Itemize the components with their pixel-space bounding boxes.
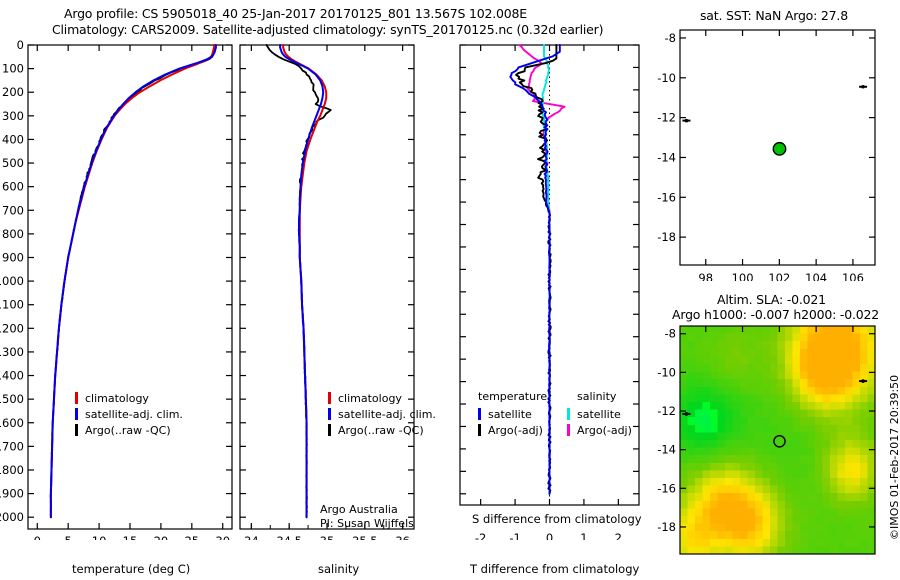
svg-text:1200: 1200 — [0, 321, 24, 335]
svg-text:36: 36 — [395, 534, 410, 540]
svg-text:-2: -2 — [475, 531, 486, 540]
svg-text:900: 900 — [2, 250, 24, 264]
svg-text:5: 5 — [65, 534, 72, 540]
svg-text:-1: -1 — [509, 531, 520, 540]
legend-label-satellite-adj-sal: satellite-adj. clim. — [338, 408, 436, 421]
legend-label-argo-raw-sal: Argo(..raw -QC) — [338, 424, 424, 437]
panel-sst-map: 98100102104106-8-10-12-14-16-18 — [655, 26, 900, 281]
svg-text:1600: 1600 — [0, 416, 24, 430]
temperature-legend: climatology satellite-adj. clim. Argo(..… — [75, 390, 183, 438]
svg-text:0: 0 — [546, 40, 553, 43]
svg-text:100: 100 — [2, 62, 24, 76]
svg-text:102: 102 — [768, 271, 790, 281]
legend-swatch-climatology — [75, 392, 78, 404]
salinity-legend: climatology satellite-adj. clim. Argo(..… — [328, 390, 436, 438]
svg-text:100: 100 — [732, 271, 754, 281]
sst-map-title: sat. SST: NaN Argo: 27.8 — [700, 8, 848, 23]
t-difference-axis-label: T difference from climatology — [470, 562, 639, 576]
legend-swatch-temp-satellite — [478, 408, 481, 420]
legend-header-temperature: temperature — [478, 390, 547, 406]
svg-text:1700: 1700 — [0, 439, 24, 453]
svg-text:-16: -16 — [657, 481, 676, 495]
svg-text:0.5: 0.5 — [609, 40, 627, 43]
svg-text:1800: 1800 — [0, 463, 24, 477]
svg-text:0.25: 0.25 — [571, 40, 597, 43]
legend-label-argo-raw: Argo(..raw -QC) — [85, 424, 171, 437]
legend-swatch-argo-raw — [75, 424, 78, 436]
legend-label-temp-satellite: satellite — [488, 408, 532, 421]
salinity-xaxis-label: salinity — [318, 562, 359, 576]
legend-label-sal-argo-adj: Argo(-adj) — [577, 424, 632, 437]
svg-text:-0.25: -0.25 — [500, 40, 530, 43]
difference-plot-svg: -2-1012-0.5-0.2500.250.5 — [455, 40, 645, 540]
svg-text:1400: 1400 — [0, 369, 24, 383]
legend-label-temp-argo-adj: Argo(-adj) — [488, 424, 543, 437]
argo-pi-credit: PI: Susan Wijffels — [320, 517, 414, 530]
legend-label-sal-satellite: satellite — [577, 408, 621, 421]
copyright-text: ©IMOS 01-Feb-2017 20:39:50 — [888, 540, 900, 553]
legend-label-climatology-sal: climatology — [338, 392, 402, 405]
svg-text:600: 600 — [2, 180, 24, 194]
legend-swatch-temp-argo-adj — [478, 424, 481, 436]
legend-swatch-sal-argo-adj — [567, 424, 570, 436]
legend-label-satellite-adj: satellite-adj. clim. — [85, 408, 183, 421]
panel-difference: -2-1012-0.5-0.2500.250.5 — [455, 40, 645, 540]
svg-text:300: 300 — [2, 109, 24, 123]
panel-temperature: 0100200300400500600700800900100011001200… — [0, 40, 240, 540]
svg-text:500: 500 — [2, 156, 24, 170]
sst-map-svg: 98100102104106-8-10-12-14-16-18 — [655, 26, 900, 281]
legend-header-salinity: salinity — [567, 390, 632, 406]
svg-text:-12: -12 — [657, 404, 676, 418]
panel-sla-map: -8-10-12-14-16-18 — [655, 322, 900, 580]
svg-text:35.5: 35.5 — [352, 534, 378, 540]
svg-text:1: 1 — [580, 531, 587, 540]
svg-text:2000: 2000 — [0, 510, 24, 524]
sla-map-title-line1: Altim. SLA: -0.021 — [717, 292, 826, 307]
svg-text:1100: 1100 — [0, 298, 24, 312]
svg-text:34: 34 — [244, 534, 259, 540]
svg-text:700: 700 — [2, 203, 24, 217]
panel-salinity: 3434.53535.536 — [238, 40, 418, 540]
svg-text:-10: -10 — [657, 365, 676, 379]
temperature-plot-svg: 0100200300400500600700800900100011001200… — [0, 40, 240, 540]
svg-text:-10: -10 — [657, 71, 676, 85]
svg-text:-14: -14 — [657, 150, 676, 164]
sla-map-svg: -8-10-12-14-16-18 — [655, 322, 900, 580]
svg-text:2: 2 — [615, 531, 622, 540]
argo-australia-credit: Argo Australia — [320, 503, 398, 516]
s-difference-axis-label: S difference from climatology — [472, 512, 642, 526]
svg-text:400: 400 — [2, 132, 24, 146]
svg-text:25: 25 — [184, 534, 199, 540]
svg-text:-0.5: -0.5 — [469, 40, 491, 43]
svg-text:-12: -12 — [657, 111, 676, 125]
difference-legend-salinity: salinity satellite Argo(-adj) — [567, 390, 632, 438]
difference-legend-temperature: temperature satellite Argo(-adj) — [478, 390, 547, 438]
svg-text:98: 98 — [698, 271, 713, 281]
legend-label-climatology: climatology — [85, 392, 149, 405]
salinity-plot-svg: 3434.53535.536 — [238, 40, 418, 540]
svg-text:35: 35 — [320, 534, 335, 540]
svg-text:10: 10 — [92, 534, 107, 540]
legend-swatch-satellite-adj — [75, 408, 78, 420]
temperature-xaxis-label: temperature (deg C) — [72, 562, 190, 576]
legend-swatch-satellite-adj-sal — [328, 408, 331, 420]
page-title-line2: Climatology: CARS2009. Satellite-adjuste… — [52, 22, 603, 37]
svg-text:15: 15 — [123, 534, 138, 540]
legend-swatch-climatology-sal — [328, 392, 331, 404]
svg-text:34.5: 34.5 — [276, 534, 302, 540]
legend-swatch-sal-satellite — [567, 408, 570, 420]
svg-text:1000: 1000 — [0, 274, 24, 288]
svg-text:0: 0 — [34, 534, 41, 540]
svg-text:-14: -14 — [657, 443, 676, 457]
svg-text:104: 104 — [805, 271, 827, 281]
sla-map-title-line2: Argo h1000: -0.007 h2000: -0.022 — [672, 307, 879, 322]
svg-text:1300: 1300 — [0, 345, 24, 359]
svg-text:-18: -18 — [657, 230, 676, 244]
page-title-line1: Argo profile: CS 5905018_40 25-Jan-2017 … — [64, 6, 527, 21]
svg-text:-8: -8 — [665, 327, 676, 341]
svg-text:-8: -8 — [665, 31, 676, 45]
svg-text:30: 30 — [215, 534, 230, 540]
svg-text:0: 0 — [546, 531, 553, 540]
svg-text:800: 800 — [2, 227, 24, 241]
svg-text:106: 106 — [842, 271, 864, 281]
svg-text:200: 200 — [2, 85, 24, 99]
legend-swatch-argo-raw-sal — [328, 424, 331, 436]
svg-text:20: 20 — [154, 534, 169, 540]
svg-text:-18: -18 — [657, 520, 676, 534]
svg-text:-16: -16 — [657, 190, 676, 204]
svg-text:0: 0 — [17, 40, 24, 52]
svg-text:1900: 1900 — [0, 487, 24, 501]
svg-text:1500: 1500 — [0, 392, 24, 406]
